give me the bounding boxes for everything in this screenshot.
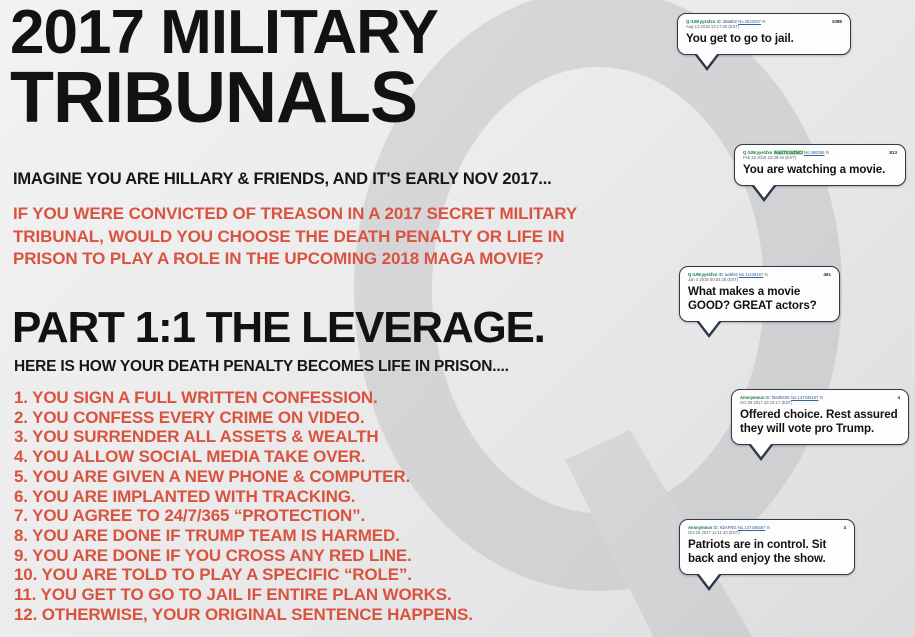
list-item: 2. YOU CONFESS EVERY CRIME ON VIDEO. — [14, 408, 614, 428]
reply-marker-icon[interactable]: ⊟ — [762, 19, 766, 24]
bubble-tail-inner — [751, 444, 771, 457]
bubble-tail-inner — [699, 321, 719, 334]
premise-intro-line: IMAGINE YOU ARE HILLARY & FRIENDS, AND I… — [13, 170, 551, 189]
post-count-badge: 813 — [883, 150, 897, 155]
post-body: You get to go to jail. — [686, 32, 842, 46]
premise-question-line: TRIBUNAL, WOULD YOU CHOOSE THE DEATH PEN… — [13, 226, 633, 249]
post-header: Anonymous ID: f0a3043X No.147349157 ⊟ Oc… — [740, 395, 900, 405]
list-item: 8. YOU ARE DONE IF TRUMP TEAM IS HARMED. — [14, 526, 614, 546]
steps-list: 1. YOU SIGN A FULL WRITTEN CONFESSION. 2… — [14, 388, 614, 624]
list-item: 3. YOU SURRENDER ALL ASSETS & WEALTH — [14, 427, 614, 447]
bubble-tail-inner — [697, 54, 717, 67]
list-item: 12. OTHERWISE, YOUR ORIGINAL SENTENCE HA… — [14, 605, 614, 625]
speech-bubble-post: Anonymous ID: f0a3043X No.147349157 ⊟ Oc… — [731, 389, 909, 445]
list-item: 6. YOU ARE IMPLANTED WITH TRACKING. — [14, 487, 614, 507]
list-item: 1. YOU SIGN A FULL WRITTEN CONFESSION. — [14, 388, 614, 408]
post-header: Q !UW.yye1fxo ID: d8a8b2 No.2622597 ⊟ Au… — [686, 19, 842, 29]
reply-marker-icon[interactable]: ⊟ — [826, 150, 830, 155]
post-header-left: Q !UW.yye1fxo ID: aebfc6 No.11108157 ⊟ J… — [688, 272, 768, 282]
poster-image: 2017 MILITARY TRIBUNALS IMAGINE YOU ARE … — [0, 0, 915, 637]
post-body: Patriots are in control. Sit back and en… — [688, 538, 846, 565]
reply-marker-icon[interactable]: ⊟ — [764, 272, 768, 277]
reply-marker-icon[interactable]: ⊟ — [766, 525, 770, 530]
post-body: You are watching a movie. — [743, 163, 897, 177]
post-timestamp: Jan 4 2018 00:54:28 (EST) — [688, 277, 768, 282]
post-header-left: Anonymous ID: f0a3043X No.147349157 ⊟ Oc… — [740, 395, 823, 405]
list-item: 7. YOU AGREE TO 24/7/365 “PROTECTION”. — [14, 506, 614, 526]
speech-bubble-post: Q !UW.yye1fxo ID: aebfc6 No.11108157 ⊟ J… — [679, 266, 840, 322]
bubble-tail-inner — [699, 574, 719, 587]
page-title-line-2: TRIBUNALS — [10, 62, 417, 134]
post-timestamp: Oct 29 2017 23:16:17 (EST) — [740, 400, 823, 405]
post-body: What makes a movie GOOD? GREAT actors? — [688, 285, 831, 312]
list-item: 4. YOU ALLOW SOCIAL MEDIA TAKE OVER. — [14, 447, 614, 467]
reply-marker-icon[interactable]: ⊟ — [820, 395, 824, 400]
post-timestamp: Feb 22 2018 23:39:44 (EST) — [743, 155, 829, 160]
list-item: 5. YOU ARE GIVEN A NEW PHONE & COMPUTER. — [14, 467, 614, 487]
poster-text-column: 2017 MILITARY TRIBUNALS IMAGINE YOU ARE … — [0, 0, 660, 637]
speech-bubble-post: Q !UW.yye1fxo ID: d8a8b2 No.2622597 ⊟ Au… — [677, 13, 851, 55]
post-count-badge: 4 — [837, 525, 846, 530]
post-header-left: Q !UW.yye1fxo !!mG7VJxZNCI No.366358 ⊟ F… — [743, 150, 829, 160]
post-timestamp: Oct 29 2017 11:11:40 (EST) — [688, 530, 770, 535]
bubble-tail-inner — [754, 185, 774, 198]
post-header: Q !UW.yye1fxo !!mG7VJxZNCI No.366358 ⊟ F… — [743, 150, 897, 160]
post-body: Offered choice. Rest assured they will v… — [740, 408, 900, 435]
post-link[interactable]: No.11108157 — [739, 272, 764, 277]
post-link[interactable]: No.2622597 — [738, 19, 761, 24]
list-item: 11. YOU GET TO GO TO JAIL IF ENTIRE PLAN… — [14, 585, 614, 605]
post-header: Q !UW.yye1fxo ID: aebfc6 No.11108157 ⊟ J… — [688, 272, 831, 282]
list-item: 9. YOU ARE DONE IF YOU CROSS ANY RED LIN… — [14, 546, 614, 566]
post-count-badge: 4 — [891, 395, 900, 400]
post-link[interactable]: No.366358 — [804, 150, 825, 155]
premise-question-line: IF YOU WERE CONVICTED OF TREASON IN A 20… — [13, 203, 633, 226]
premise-question: IF YOU WERE CONVICTED OF TREASON IN A 20… — [13, 203, 633, 271]
post-link[interactable]: No.147349157 — [791, 395, 818, 400]
post-timestamp: Aug 13 2018 13:17:25 (EST) — [686, 24, 766, 29]
speech-bubble-post: Q !UW.yye1fxo !!mG7VJxZNCI No.366358 ⊟ F… — [734, 144, 906, 186]
post-count-badge: 1088 — [826, 19, 842, 24]
post-count-badge: 461 — [817, 272, 831, 277]
section-subheading: HERE IS HOW YOUR DEATH PENALTY BECOMES L… — [14, 358, 509, 376]
post-link[interactable]: No.147166587 — [738, 525, 765, 530]
list-item: 10. YOU ARE TOLD TO PLAY A SPECIFIC “ROL… — [14, 565, 614, 585]
page-title-line-1: 2017 MILITARY — [10, 2, 438, 64]
post-header-left: Anonymous ID: KbAFNG No.147166587 ⊟ Oct … — [688, 525, 770, 535]
post-header: Anonymous ID: KbAFNG No.147166587 ⊟ Oct … — [688, 525, 846, 535]
speech-bubble-post: Anonymous ID: KbAFNG No.147166587 ⊟ Oct … — [679, 519, 855, 575]
post-header-left: Q !UW.yye1fxo ID: d8a8b2 No.2622597 ⊟ Au… — [686, 19, 766, 29]
premise-question-line: PRISON TO PLAY A ROLE IN THE UPCOMING 20… — [13, 248, 633, 271]
section-heading: PART 1:1 THE LEVERAGE. — [12, 306, 545, 350]
